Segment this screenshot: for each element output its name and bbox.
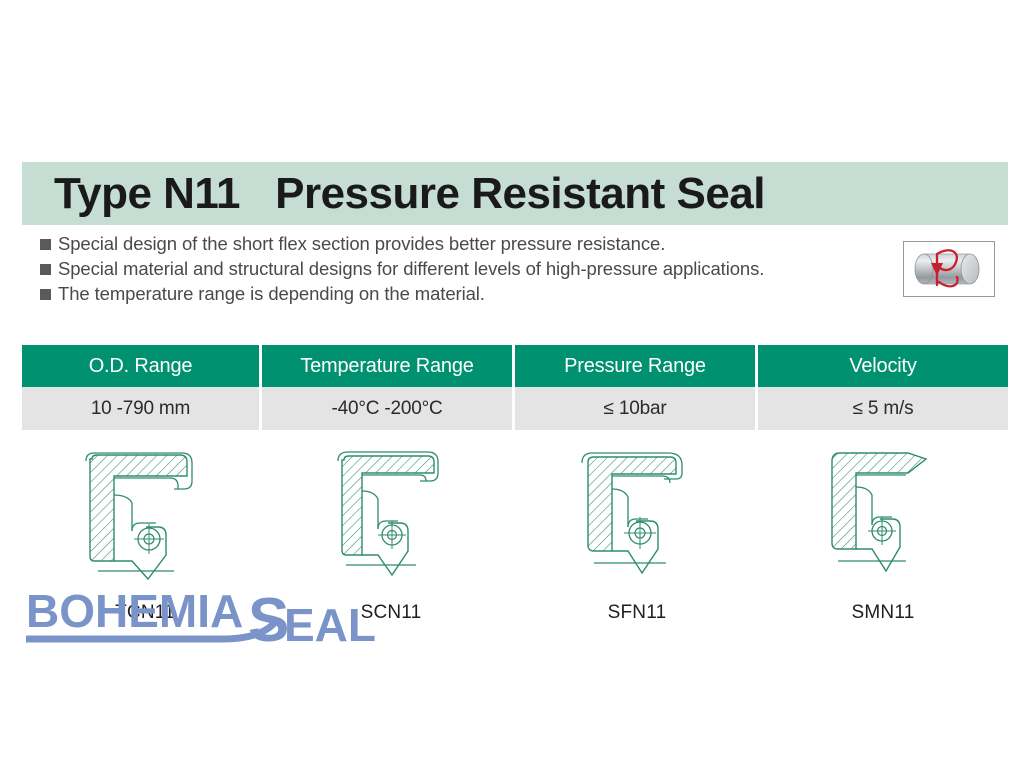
table-cell-temperature-range: -40°C -200°C [262,387,515,430]
table-cell-velocity: ≤ 5 m/s [758,387,1008,430]
seal-cross-section-sfn11 [562,440,712,590]
page-title: Type N11 Pressure Resistant Seal [22,172,765,216]
table-header-cell: Temperature Range [262,345,515,387]
seal-cross-section-scn11 [316,440,466,590]
seal-label: SMN11 [852,602,915,624]
seal-label: SCN11 [361,602,422,624]
seal-label: SFN11 [608,602,667,624]
seal-variant-tcn11: TCN11 [22,440,268,624]
seal-variant-scn11: SCN11 [268,440,514,624]
feature-list: Special design of the short flex section… [40,232,880,307]
bullet-square-icon [40,289,51,300]
table-cell-od-range: 10 -790 mm [22,387,262,430]
feature-item: The temperature range is depending on th… [40,282,880,306]
specification-table: O.D. Range Temperature Range Pressure Ra… [22,345,1008,430]
shaft-rotation-icon [903,241,995,297]
table-row: 10 -790 mm -40°C -200°C ≤ 10bar ≤ 5 m/s [22,387,1008,430]
seal-variant-gallery: TCN11 [22,440,1008,624]
seal-label: TCN11 [115,602,175,624]
bullet-square-icon [40,264,51,275]
seal-cross-section-smn11 [808,440,958,590]
feature-item: Special material and structural designs … [40,257,880,281]
table-header-cell: Pressure Range [515,345,758,387]
table-header-cell: O.D. Range [22,345,262,387]
feature-item: Special design of the short flex section… [40,232,880,256]
table-header-cell: Velocity [758,345,1008,387]
table-header-row: O.D. Range Temperature Range Pressure Ra… [22,345,1008,387]
seal-variant-sfn11: SFN11 [514,440,760,624]
feature-text: Special design of the short flex section… [58,232,665,256]
seal-cross-section-tcn11 [70,440,220,590]
table-cell-pressure-range: ≤ 10bar [515,387,758,430]
feature-text: Special material and structural designs … [58,257,764,281]
title-banner: Type N11 Pressure Resistant Seal [22,162,1008,225]
feature-text: The temperature range is depending on th… [58,282,485,306]
seal-variant-smn11: SMN11 [760,440,1006,624]
bullet-square-icon [40,239,51,250]
